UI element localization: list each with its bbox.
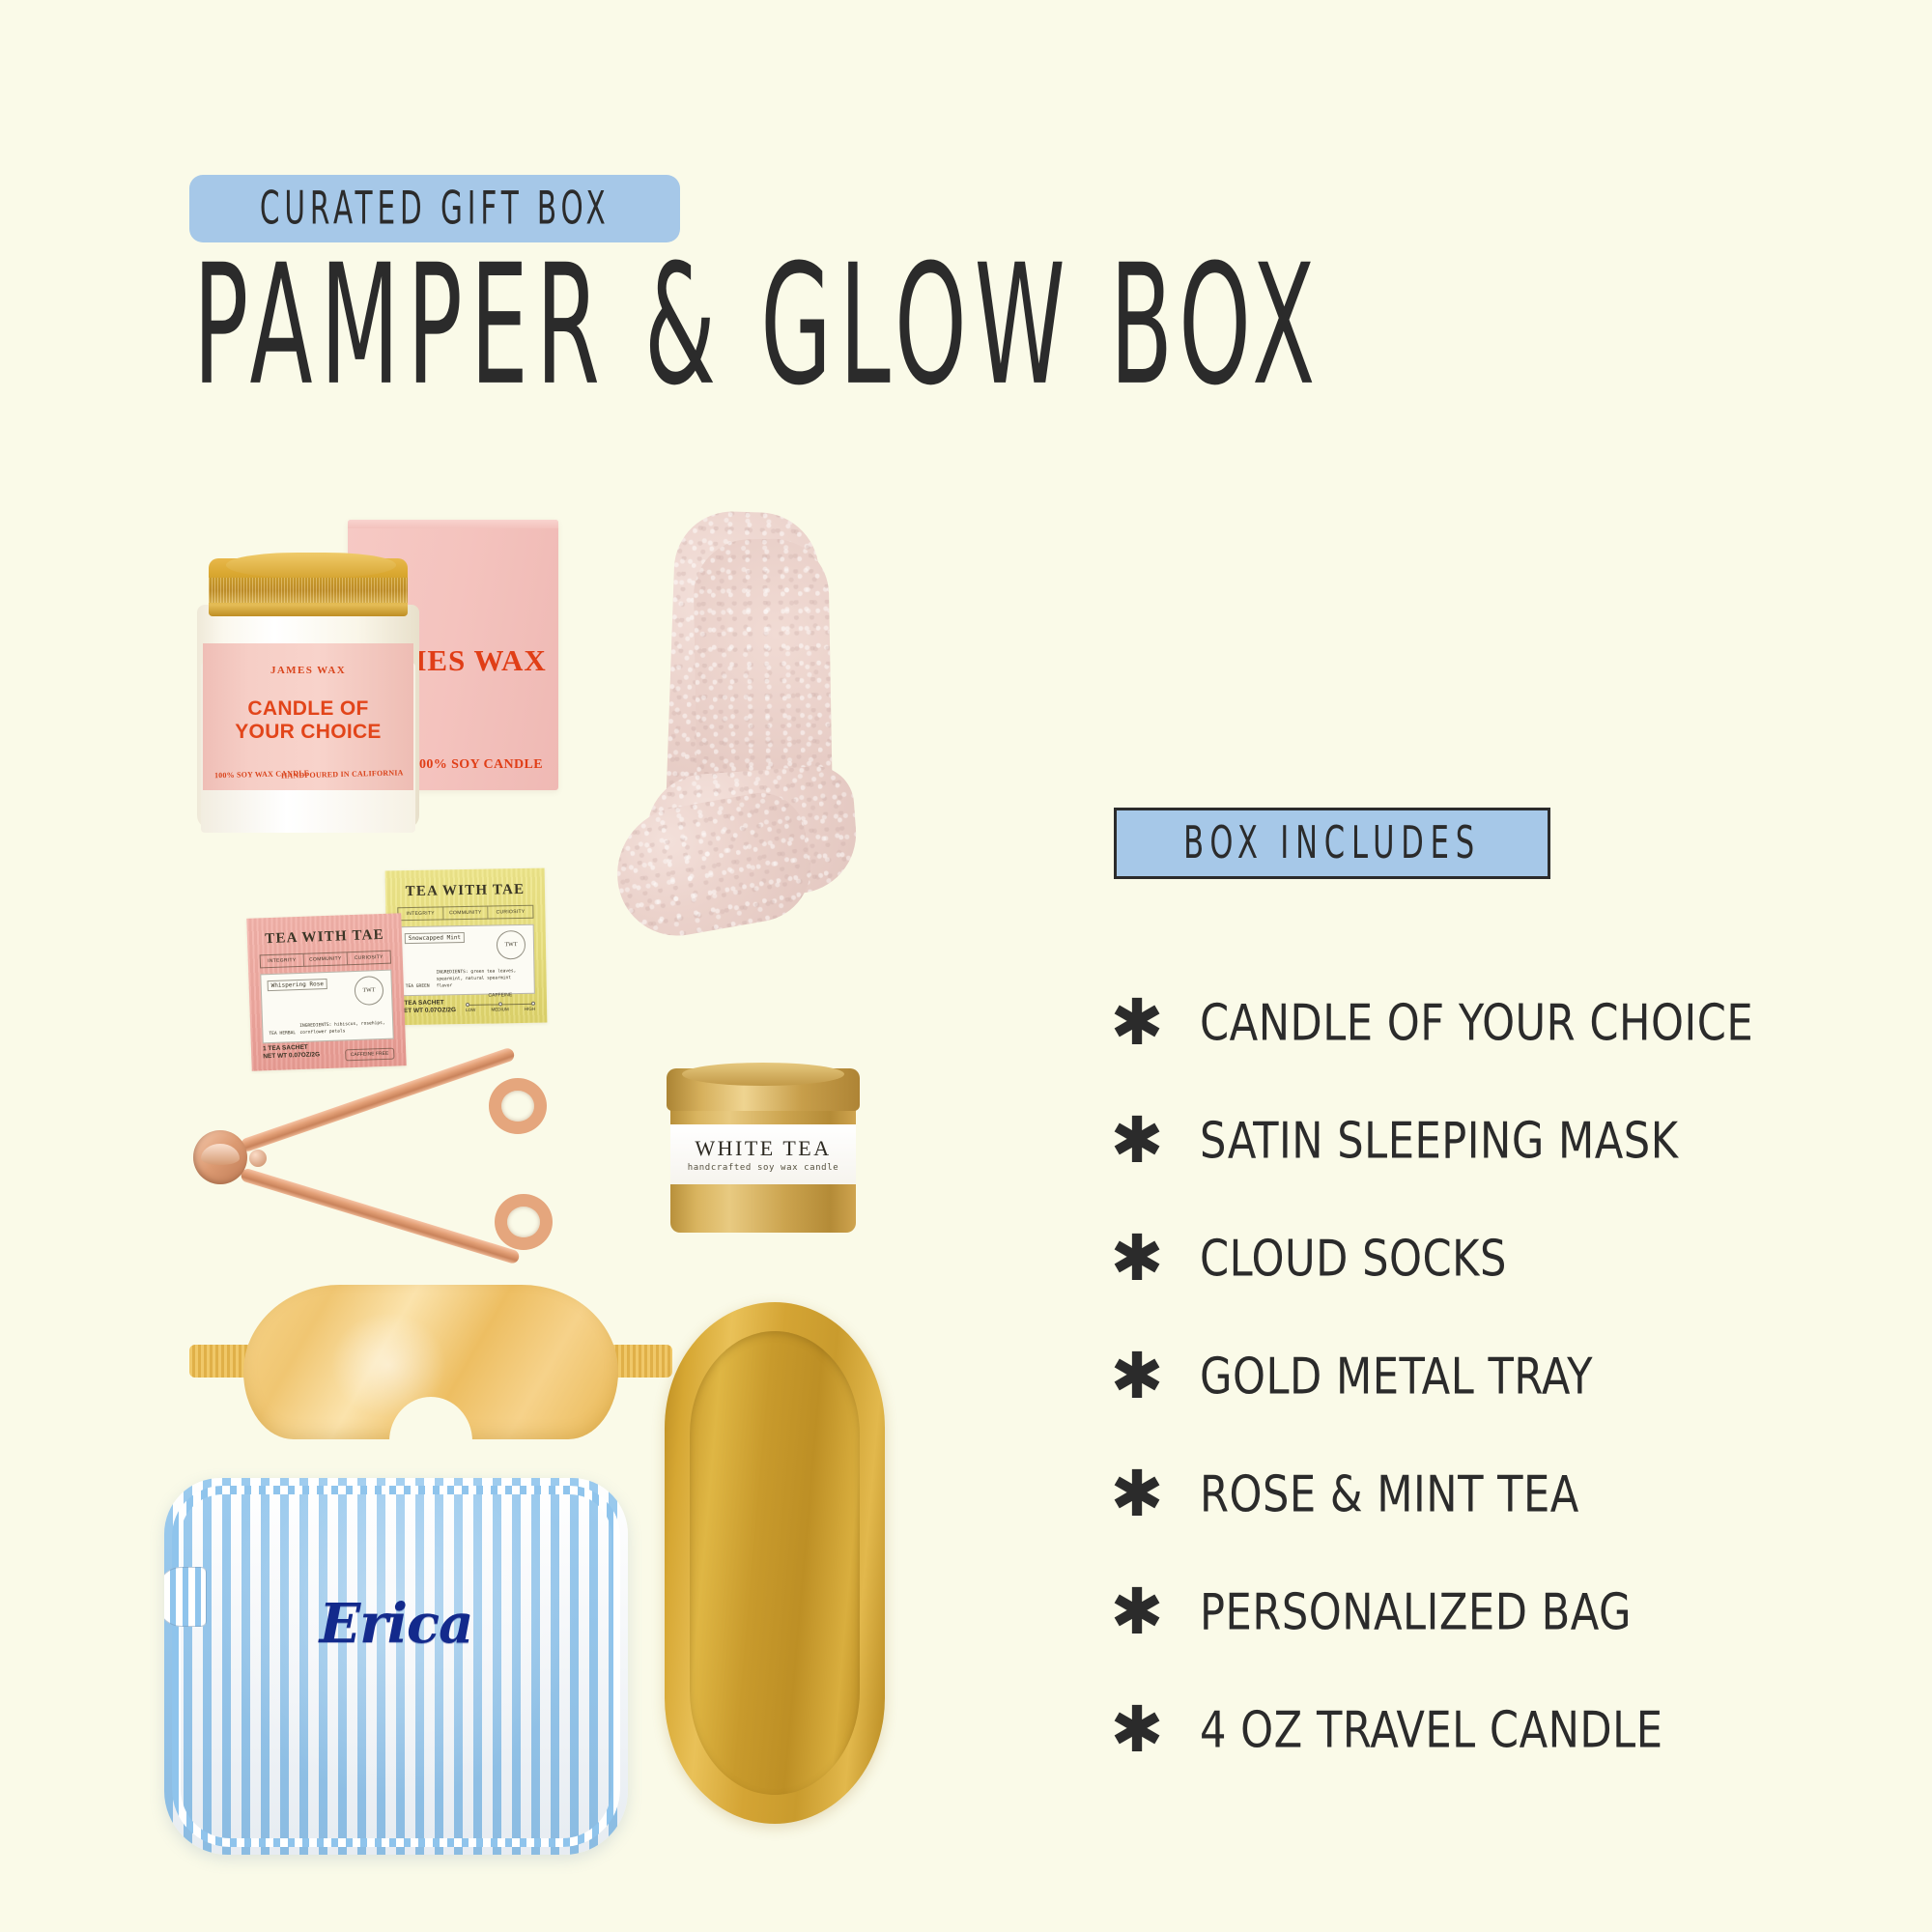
- sachet-info-card: Whispering Rose TWT TEA HERBAL INGREDIEN…: [260, 970, 393, 1044]
- sachet-attribute: INTEGRITY: [261, 954, 304, 968]
- jar-label: JAMES WAX CANDLE OF YOUR CHOICE 100% SOY…: [203, 643, 413, 790]
- bag-monogram-name: Erica: [164, 1592, 628, 1656]
- tin-label: WHITE TEA handcrafted soy wax candle: [670, 1124, 856, 1184]
- list-item: ✱ PERSONALIZED BAG: [1101, 1567, 1816, 1658]
- sachet-info-card: Snowcapped Mint TWT TEA GREEN INGREDIENT…: [398, 924, 535, 996]
- asterisk-icon: ✱: [1101, 1580, 1173, 1644]
- sock-texture: [607, 786, 819, 946]
- tray-inner-basin: [690, 1331, 860, 1795]
- caffeine-scale-line: [466, 1004, 535, 1006]
- sock-left-foot: [607, 786, 819, 946]
- sachet-flavor-label: Snowcapped Mint: [405, 932, 465, 944]
- mask-body: [243, 1285, 618, 1439]
- sachet-attribute: COMMUNITY: [304, 952, 348, 966]
- trimmer-arm-lower: [240, 1167, 521, 1264]
- jar-main-label: CANDLE OF YOUR CHOICE: [203, 697, 413, 744]
- caffeine-level: HIGH: [525, 1007, 535, 1011]
- sachet-seal-icon: TWT: [354, 976, 384, 1006]
- sachet-type-label: TEA HERBAL: [269, 1031, 296, 1037]
- sachet-net-weight: NET WT 0.07OZ/2G: [263, 1051, 320, 1061]
- list-item-label: 4 OZ TRAVEL CANDLE: [1200, 1701, 1662, 1759]
- list-item: ✱ GOLD METAL TRAY: [1101, 1331, 1816, 1422]
- caffeine-level: MEDIUM: [491, 1007, 508, 1011]
- asterisk-icon: ✱: [1101, 1345, 1173, 1408]
- jar-main-line-1: CANDLE OF: [203, 697, 413, 721]
- jar-main-line-2: YOUR CHOICE: [203, 721, 413, 744]
- tea-sachet-green-image: TEA WITH TAE INTEGRITY COMMUNITY CURIOSI…: [385, 868, 548, 1026]
- bag-piping-trim: [172, 1486, 620, 1847]
- sachet-type-label: TEA GREEN: [406, 984, 430, 990]
- jar-lid-top: [226, 553, 396, 578]
- box-includes-label: BOX INCLUDES: [1183, 818, 1481, 869]
- tin-title-label: WHITE TEA: [670, 1136, 856, 1161]
- tin-subtitle-label: handcrafted soy wax candle: [670, 1163, 856, 1173]
- carton-footer-label: 100% SOY CANDLE: [412, 757, 543, 773]
- list-item-label: GOLD METAL TRAY: [1200, 1348, 1593, 1406]
- travel-candle-tin-image: WHITE TEA handcrafted soy wax candle: [667, 1063, 860, 1256]
- list-item: ✱ 4 OZ TRAVEL CANDLE: [1101, 1685, 1816, 1776]
- list-item-label: ROSE & MINT TEA: [1200, 1465, 1579, 1523]
- list-item: ✱ CLOUD SOCKS: [1101, 1213, 1816, 1304]
- trimmer-cutting-head: [193, 1130, 247, 1184]
- asterisk-icon: ✱: [1101, 1227, 1173, 1291]
- personalized-bag-image: Erica: [164, 1478, 628, 1855]
- trimmer-pivot-screw: [249, 1150, 267, 1167]
- sachet-quantity-label: 1 TEA SACHET NET WT 0.07OZ/2G: [399, 999, 456, 1015]
- sachet-attribute: COMMUNITY: [443, 907, 489, 920]
- caffeine-title: CAFFEINE: [466, 992, 535, 999]
- trimmer-handle-ring-lower: [495, 1194, 553, 1250]
- product-collage: JAMES WAX 100% SOY CANDLE JAMES WAX CAND…: [0, 0, 1063, 1932]
- list-item-label: CANDLE OF YOUR CHOICE: [1200, 994, 1753, 1052]
- sachet-ingredients-label: INGREDIENTS: green tea leaves, spearmint…: [436, 968, 527, 990]
- sachet-brand-label: TEA WITH TAE: [385, 882, 545, 901]
- sachet-ingredients-label: INGREDIENTS: hibiscus, rosehips, cornflo…: [299, 1020, 386, 1037]
- candle-jar-image: JAMES WAX CANDLE OF YOUR CHOICE 100% SOY…: [197, 558, 419, 829]
- asterisk-icon: ✱: [1101, 1109, 1173, 1173]
- jar-gold-lid: [209, 558, 408, 616]
- sachet-attribute: CURIOSITY: [348, 952, 390, 965]
- sachet-quantity-label: 1 TEA SACHET NET WT 0.07OZ/2G: [263, 1043, 320, 1061]
- list-item: ✱ ROSE & MINT TEA: [1101, 1449, 1816, 1540]
- sachet-seal-icon: TWT: [497, 930, 526, 960]
- sachet-caffeine-badge-wrap: CAFFEINE FREE: [345, 1051, 395, 1059]
- caffeine-level: LOW: [466, 1008, 475, 1012]
- wick-trimmer-image: [184, 1070, 589, 1293]
- asterisk-icon: ✱: [1101, 991, 1173, 1055]
- asterisk-icon: ✱: [1101, 1463, 1173, 1526]
- caffeine-scale-labels: LOW MEDIUM HIGH: [466, 1007, 535, 1012]
- asterisk-icon: ✱: [1101, 1698, 1173, 1762]
- box-includes-list: ✱ CANDLE OF YOUR CHOICE ✱ SATIN SLEEPING…: [1101, 978, 1816, 1803]
- cloud-socks-image: [587, 512, 906, 1053]
- list-item: ✱ CANDLE OF YOUR CHOICE: [1101, 978, 1816, 1068]
- gift-box-infographic: CURATED GIFT BOX PAMPER & GLOW BOX JAMES…: [0, 0, 1932, 1932]
- list-item: ✱ SATIN SLEEPING MASK: [1101, 1095, 1816, 1186]
- sachet-attribute-bar: INTEGRITY COMMUNITY CURIOSITY: [260, 951, 391, 969]
- tea-sachet-herbal-image: TEA WITH TAE INTEGRITY COMMUNITY CURIOSI…: [246, 913, 406, 1070]
- sachet-attribute-bar: INTEGRITY COMMUNITY CURIOSITY: [397, 905, 533, 921]
- list-item-label: CLOUD SOCKS: [1200, 1230, 1507, 1288]
- tin-lid-top: [682, 1063, 844, 1086]
- list-item-label: PERSONALIZED BAG: [1200, 1583, 1632, 1641]
- sachet-brand-label: TEA WITH TAE: [247, 926, 402, 949]
- list-item-label: SATIN SLEEPING MASK: [1200, 1112, 1679, 1170]
- jar-footer-right: HANDPOURED IN CALIFORNIA: [281, 768, 404, 780]
- sachet-attribute: CURIOSITY: [489, 906, 533, 919]
- sleeping-mask-image: [189, 1273, 672, 1466]
- sachet-flavor-label: Whispering Rose: [268, 979, 328, 991]
- caffeine-free-badge: CAFFEINE FREE: [345, 1048, 395, 1062]
- gold-tray-image: [665, 1302, 885, 1824]
- jar-brand-label: JAMES WAX: [203, 665, 413, 676]
- sachet-caffeine-scale: CAFFEINE LOW MEDIUM HIGH: [466, 992, 535, 1012]
- trimmer-handle-ring-upper: [489, 1078, 547, 1134]
- sachet-attribute: INTEGRITY: [398, 907, 443, 920]
- sachet-net-weight: NET WT 0.07OZ/2G: [399, 1007, 456, 1015]
- box-includes-header: BOX INCLUDES: [1114, 808, 1550, 879]
